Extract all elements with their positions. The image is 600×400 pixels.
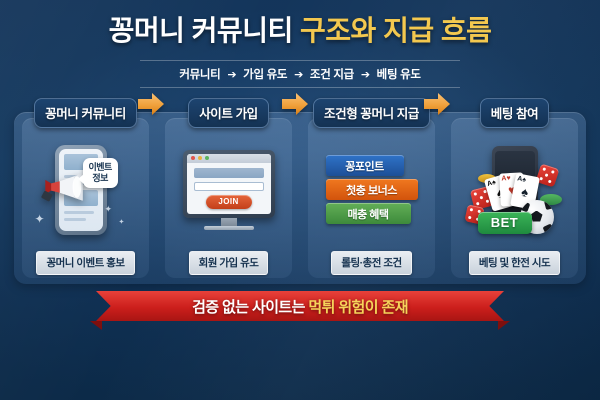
screen-text-line (64, 218, 86, 221)
bubble-line-2: 정보 (89, 173, 112, 184)
browser-window-icon: JOIN (187, 154, 271, 214)
subtitle-step-1: 커뮤니티 (179, 69, 220, 81)
reward-bar-recharge: 매충 혜택 (326, 203, 411, 224)
subtitle-step-2: 가입 유도 (243, 69, 287, 81)
monitor-stand-neck (221, 218, 237, 226)
step-caption-signup: 회원 가입 유도 (189, 251, 269, 275)
arrow-right-icon: ➔ (357, 69, 374, 81)
step-header-community: 꽁머니 커뮤니티 (34, 98, 137, 128)
flow-step-betting: 베팅 참여 (443, 112, 586, 284)
form-field-filled[interactable] (194, 168, 264, 178)
bubble-line-1: 이벤트 (89, 162, 112, 173)
sparkle-icon: ✦ (105, 204, 113, 215)
card-suit-icon: ♠ (520, 185, 529, 199)
speech-bubble-event-info: 이벤트 정보 (83, 158, 118, 189)
join-button[interactable]: JOIN (206, 195, 252, 209)
arrow-right-icon (138, 92, 164, 116)
close-icon (191, 156, 195, 160)
monitor-body: JOIN (183, 150, 275, 218)
arrow-right-icon (282, 92, 308, 116)
arrow-right-icon: ➔ (223, 69, 240, 81)
ball-patch (531, 211, 543, 222)
title-part-white-1: 꽁머니 커뮤니티 (109, 15, 300, 46)
browser-titlebar (187, 154, 271, 163)
casino-scene: A♠ ♠ A♥ ♥ A♠ ♠ (462, 142, 568, 238)
subtitle-flow: 커뮤니티 ➔ 가입 유도 ➔ 조건 지급 ➔ 베팅 유도 (140, 66, 460, 82)
warning-banner: 검증 없는 사이트는 먹튀 위험이 존재 (96, 291, 504, 321)
arrow-right-icon: ➔ (290, 69, 307, 81)
page-title: 꽁머니 커뮤니티 구조와 지급 흐름 (0, 16, 600, 47)
subtitle-rule: 커뮤니티 ➔ 가입 유도 ➔ 조건 지급 ➔ 베팅 유도 (140, 60, 460, 88)
signup-form: JOIN (187, 163, 271, 214)
step-illustration-signup: JOIN (157, 128, 300, 251)
warning-banner-text: 검증 없는 사이트는 먹튀 위험이 존재 (192, 296, 408, 317)
arrow-right-icon (424, 92, 450, 116)
step-caption-betting: 베팅 및 한전 시도 (469, 251, 560, 275)
ribbon-tail-right (498, 321, 510, 330)
step-illustration-payout: 꽁포인트 첫충 보너스 매충 혜택 (300, 128, 443, 251)
desktop-monitor-icon: JOIN (183, 150, 275, 230)
minimize-icon (198, 156, 202, 160)
card-rank: A♠ (516, 175, 526, 184)
flow-step-community: 꽁머니 커뮤니티 (14, 112, 157, 284)
warning-text-gold: 먹튀 위험이 존재 (308, 299, 408, 316)
screen-text-line (64, 211, 95, 214)
bet-button[interactable]: BET (478, 212, 532, 234)
flow-steps: 꽁머니 커뮤니티 (14, 112, 586, 284)
step-illustration-betting: A♠ ♠ A♥ ♥ A♠ ♠ (443, 128, 586, 251)
title-part-white-2 (376, 15, 383, 46)
step-caption-payout: 롤팅·총전 조건 (331, 251, 411, 275)
title-part-gold-2: 지급 흐름 (383, 15, 491, 46)
step-header-payout: 조건형 꽁머니 지급 (313, 98, 430, 128)
warning-text-white-2: 는 (292, 299, 309, 316)
flow-step-payout: 조건형 꽁머니 지급 꽁포인트 첫충 보너스 매충 혜택 롤팅·총전 조건 (300, 112, 443, 284)
reward-bar-list: 꽁포인트 첫충 보너스 매충 혜택 (326, 155, 418, 224)
maximize-icon (205, 156, 209, 160)
monitor-stand-base (204, 226, 254, 230)
card-rank: A♥ (501, 175, 511, 182)
ball-patch (543, 200, 553, 210)
step-caption-community: 꽁머니 이벤트 홍보 (36, 251, 134, 275)
warning-text-white-1: 검증 없는 사이트 (192, 299, 292, 316)
form-field-empty[interactable] (194, 182, 264, 191)
step-header-signup: 사이트 가입 (188, 98, 269, 128)
subtitle-step-4: 베팅 유도 (377, 69, 421, 81)
flow-step-signup: 사이트 가입 JOIN (157, 112, 300, 284)
step-header-betting: 베팅 참여 (480, 98, 549, 128)
step-illustration-community: 이벤트 정보 ✦ ✦ ✦ (14, 128, 157, 251)
reward-bar-point: 꽁포인트 (326, 155, 404, 176)
infographic-root: 꽁머니 커뮤니티 구조와 지급 흐름 커뮤니티 ➔ 가입 유도 ➔ 조건 지급 … (0, 0, 600, 400)
ribbon-tail-left (90, 321, 102, 330)
sparkle-icon: ✦ (119, 218, 125, 226)
subtitle-step-3: 조건 지급 (310, 69, 354, 81)
ball-patch (542, 223, 553, 233)
ball-patch (520, 200, 530, 212)
title-part-gold-1: 구조와 (300, 15, 376, 46)
reward-bar-first-deposit: 첫충 보너스 (326, 179, 418, 200)
sparkle-icon: ✦ (35, 212, 45, 226)
